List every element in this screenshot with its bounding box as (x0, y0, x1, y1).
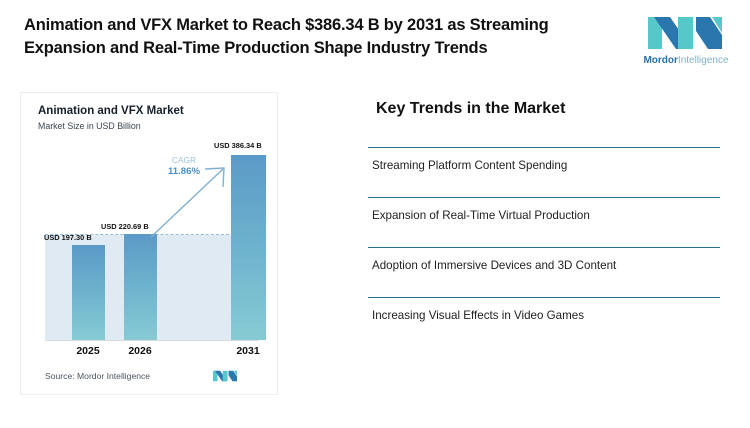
key-trends-panel: Key Trends in the Market Streaming Platf… (368, 100, 720, 368)
brand-name-primary: Mordor (643, 55, 677, 66)
list-item[interactable]: Adoption of Immersive Devices and 3D Con… (368, 247, 720, 297)
brand-wordmark: MordorIntelligence (636, 55, 736, 66)
chart-subtitle: Market Size in USD Billion (38, 121, 141, 131)
brand-logo: MordorIntelligence (636, 13, 736, 73)
trend-label: Adoption of Immersive Devices and 3D Con… (372, 259, 616, 272)
cagr-value: 11.86% (156, 166, 212, 178)
x-axis-tick-2025: 2025 (66, 345, 110, 357)
trend-label: Increasing Visual Effects in Video Games (372, 309, 584, 322)
trend-label: Expansion of Real-Time Virtual Productio… (372, 209, 590, 222)
brand-name-secondary: Intelligence (678, 55, 729, 66)
list-item[interactable]: Streaming Platform Content Spending (368, 147, 720, 197)
key-trends-list: Streaming Platform Content Spending Expa… (368, 147, 720, 347)
bar-2025 (72, 245, 105, 340)
page-header: Animation and VFX Market to Reach $386.3… (0, 0, 750, 88)
key-trends-title: Key Trends in the Market (376, 100, 565, 118)
chart-title: Animation and VFX Market (38, 105, 184, 117)
list-item[interactable]: Expansion of Real-Time Virtual Productio… (368, 197, 720, 247)
chart-source-text: Source: Mordor Intelligence (45, 371, 150, 381)
chart-source-row: Source: Mordor Intelligence (45, 369, 259, 387)
x-axis-tick-2026: 2026 (118, 345, 162, 357)
market-size-chart-card: Animation and VFX Market Market Size in … (20, 92, 278, 395)
cagr-label: CAGR (156, 155, 212, 166)
bar-value-label-2031: USD 386.34 B (214, 141, 262, 150)
chart-x-axis-line (45, 340, 259, 341)
x-axis-tick-2031: 2031 (226, 345, 270, 357)
bar-value-label-2026: USD 220.69 B (101, 222, 149, 231)
mordor-mark-icon (213, 369, 237, 383)
trend-label: Streaming Platform Content Spending (372, 159, 567, 172)
bar-2026 (124, 234, 157, 340)
page-title: Animation and VFX Market to Reach $386.3… (24, 14, 614, 61)
list-item[interactable]: Increasing Visual Effects in Video Games (368, 297, 720, 347)
bar-value-label-2025: USD 197.30 B (44, 233, 92, 242)
cagr-annotation: CAGR 11.86% (156, 155, 212, 177)
chart-plot-area: USD 197.30 B USD 220.69 B USD 386.34 B C… (45, 153, 259, 341)
mordor-intelligence-logo-icon (648, 13, 722, 53)
bar-2031 (231, 155, 266, 340)
